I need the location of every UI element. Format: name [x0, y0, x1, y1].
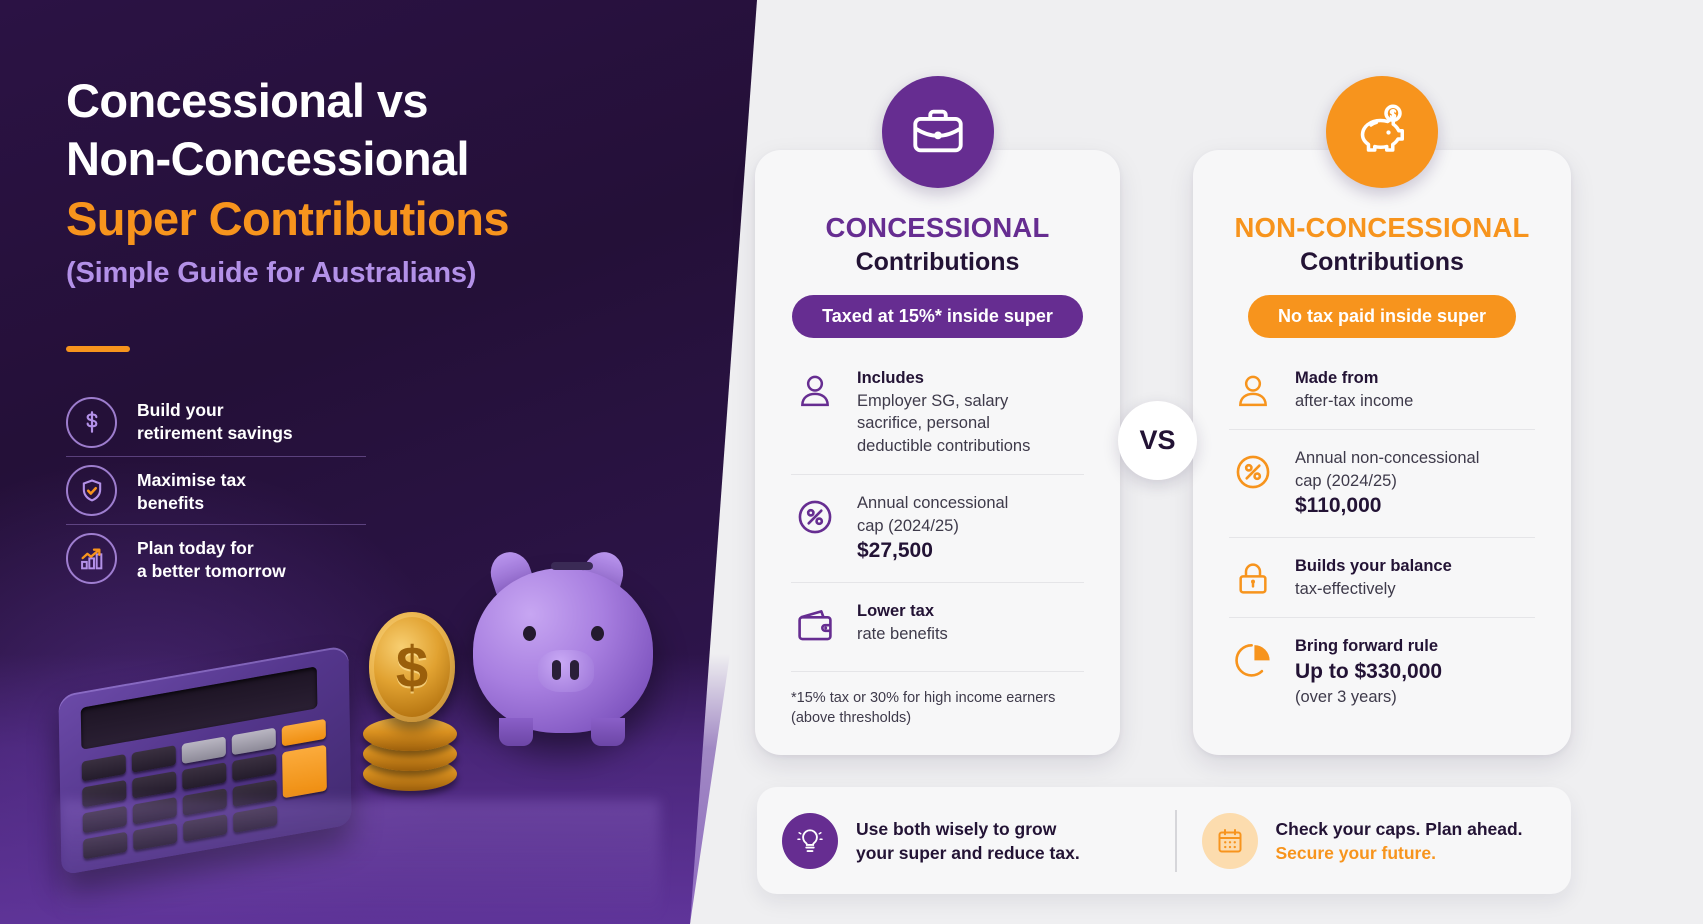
list-item-text: Annual non-concessional cap (2024/25) $1… [1295, 447, 1479, 520]
summary-tip-right-text: Check your caps. Plan ahead. Secure your… [1276, 817, 1523, 865]
list-item-text: Includes Employer SG, salary sacrifice, … [857, 367, 1030, 457]
headline-line-1: Concessional vs [66, 72, 666, 130]
list-item-body: rate benefits [857, 625, 948, 643]
list-item-heading: Builds your balance [1295, 555, 1452, 578]
shield-check-icon [66, 465, 117, 516]
card-title: CONCESSIONAL [755, 212, 1120, 244]
list-item: Annual non-concessional cap (2024/25) $1… [1229, 429, 1535, 537]
list-item-text: Made from after-tax income [1295, 367, 1413, 412]
vs-badge: VS [1118, 401, 1197, 480]
percent-circle-icon [1229, 447, 1277, 493]
infographic-canvas: Concessional vs Non-Concessional Super C… [0, 0, 1703, 924]
coin-disc [363, 717, 457, 751]
summary-tip-right: Check your caps. Plan ahead. Secure your… [1177, 813, 1523, 869]
piggy-eye [591, 626, 604, 641]
calculator-key [232, 753, 276, 781]
list-item-value: $110,000 [1295, 492, 1479, 520]
calculator-key [182, 762, 226, 790]
percent-circle-icon [791, 492, 839, 538]
list-item: Includes Employer SG, salary sacrifice, … [791, 350, 1084, 474]
non-concessional-card[interactable]: NON-CONCESSIONAL Contributions No tax pa… [1193, 150, 1571, 755]
card-subtitle: Contributions [755, 248, 1120, 277]
calculator-key [82, 754, 126, 782]
page-title: Concessional vs Non-Concessional Super C… [66, 72, 666, 296]
summary-line-1: Use both wisely to grow [856, 817, 1080, 841]
list-item-body: after-tax income [1295, 392, 1413, 410]
tax-status-badge: Taxed at 15%* inside super [792, 295, 1083, 338]
calculator-key [132, 771, 176, 799]
summary-bar: Use both wisely to grow your super and r… [757, 787, 1571, 894]
list-item-heading: Made from [1295, 367, 1413, 390]
surface-reflection [60, 800, 660, 920]
coin-stack-illustration: $ [355, 612, 465, 802]
lightbulb-icon [782, 813, 838, 869]
dollar-circle-icon [66, 397, 117, 448]
calculator-key [232, 728, 276, 756]
pie-chart-icon [1229, 635, 1277, 681]
summary-tip-left-text: Use both wisely to grow your super and r… [856, 817, 1080, 865]
list-item-heading: Lower tax [857, 600, 948, 623]
non-concessional-feature-list: Made from after-tax income Annual non-co… [1229, 350, 1535, 725]
benefit-label: Plan today for a better tomorrow [137, 535, 286, 583]
person-icon [1229, 367, 1277, 411]
card-subtitle: Contributions [1193, 248, 1571, 277]
summary-line-2: your super and reduce tax. [856, 841, 1080, 865]
piggy-eye [523, 626, 536, 641]
list-item-text: Bring forward rule Up to $330,000 (over … [1295, 635, 1442, 708]
piggy-coin-slot [551, 562, 593, 570]
headline-line-3: Super Contributions [66, 188, 666, 250]
list-item-body: (over 3 years) [1295, 688, 1397, 706]
dollar-coin: $ [369, 612, 455, 722]
list-item-value: Up to $330,000 [1295, 658, 1442, 686]
concessional-footnote: *15% tax or 30% for high income earners … [791, 671, 1084, 728]
list-item-text: Annual concessional cap (2024/25) $27,50… [857, 492, 1008, 565]
list-item-text: Lower tax rate benefits [857, 600, 948, 645]
piggy-snout [538, 650, 594, 692]
calculator-key [282, 719, 326, 747]
lock-icon [1229, 555, 1277, 599]
calendar-icon [1202, 813, 1258, 869]
list-item-body: Annual concessional cap (2024/25) [857, 494, 1008, 535]
list-item-heading: Bring forward rule [1295, 635, 1442, 658]
list-item: Lower tax rate benefits [791, 582, 1084, 663]
calculator-key-equals [282, 745, 327, 799]
list-item-body: tax-effectively [1295, 580, 1396, 598]
list-item-heading: Includes [857, 367, 1030, 390]
benefit-item-plan: Plan today for a better tomorrow [66, 524, 366, 592]
benefits-list: Build your retirement savings Maximise t… [66, 388, 366, 592]
piggy-bank-icon [1326, 76, 1438, 188]
benefit-item-savings: Build your retirement savings [66, 388, 366, 456]
tax-status-badge: No tax paid inside super [1248, 295, 1516, 338]
list-item: Bring forward rule Up to $330,000 (over … [1229, 617, 1535, 725]
growth-chart-icon [66, 533, 117, 584]
concessional-feature-list: Includes Employer SG, salary sacrifice, … [791, 350, 1084, 663]
piggy-leg [499, 718, 533, 746]
person-icon [791, 367, 839, 411]
concessional-card[interactable]: CONCESSIONAL Contributions Taxed at 15%*… [755, 150, 1120, 755]
briefcase-icon [882, 76, 994, 188]
list-item-value: $27,500 [857, 537, 1008, 565]
calculator-key [132, 745, 176, 773]
piggy-bank-illustration [455, 540, 665, 770]
benefit-label: Maximise tax benefits [137, 467, 246, 515]
benefit-item-tax: Maximise tax benefits [66, 456, 366, 524]
list-item: Builds your balance tax-effectively [1229, 537, 1535, 617]
title-underline-rule [66, 346, 130, 352]
headline-line-4: (Simple Guide for Australians) [66, 250, 666, 296]
list-item-text: Builds your balance tax-effectively [1295, 555, 1452, 600]
piggy-leg [591, 718, 625, 746]
list-item: Annual concessional cap (2024/25) $27,50… [791, 474, 1084, 582]
headline-line-2: Non-Concessional [66, 130, 666, 188]
list-item-body: Employer SG, salary sacrifice, personal … [857, 392, 1030, 455]
list-item-body: Annual non-concessional cap (2024/25) [1295, 449, 1479, 490]
summary-line-1: Check your caps. Plan ahead. [1276, 817, 1523, 841]
wallet-icon [791, 600, 839, 646]
summary-line-2: Secure your future. [1276, 841, 1523, 865]
summary-tip-left: Use both wisely to grow your super and r… [757, 813, 1175, 869]
benefit-label: Build your retirement savings [137, 399, 293, 445]
piggy-nostril [552, 660, 561, 680]
piggy-nostril [570, 660, 579, 680]
list-item: Made from after-tax income [1229, 350, 1535, 429]
calculator-key [182, 736, 226, 764]
card-title: NON-CONCESSIONAL [1193, 212, 1571, 244]
